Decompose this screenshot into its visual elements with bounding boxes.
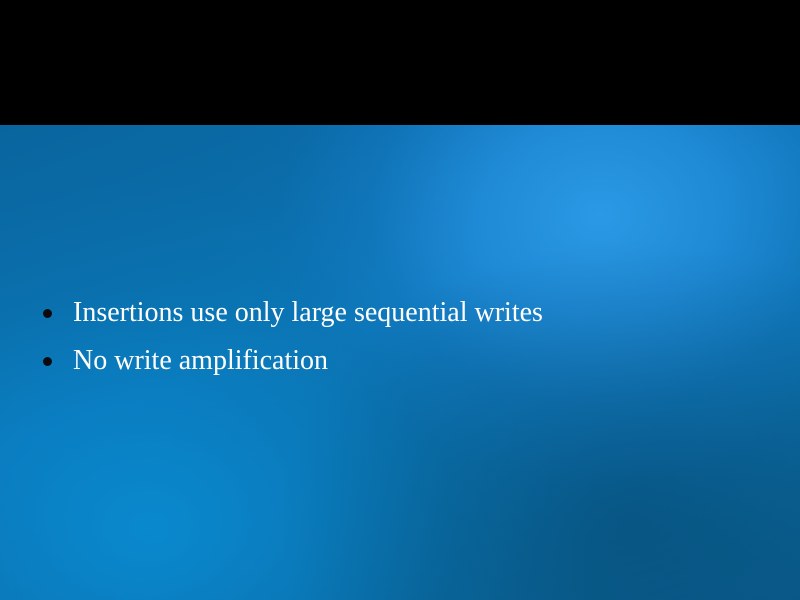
list-item: Insertions use only large sequential wri… xyxy=(43,294,743,332)
bullet-list: Insertions use only large sequential wri… xyxy=(43,294,743,390)
list-item: No write amplification xyxy=(43,342,743,380)
list-item-label: No write amplification xyxy=(73,342,328,380)
list-item-label: Insertions use only large sequential wri… xyxy=(73,294,543,332)
title-band xyxy=(0,0,800,125)
bullet-dot-icon xyxy=(43,357,52,366)
presentation-slide: Inserting into the hash store Insertions… xyxy=(0,0,800,600)
bullet-dot-icon xyxy=(43,309,52,318)
background-glow-bottom-left xyxy=(0,180,600,600)
slide-body: Insertions use only large sequential wri… xyxy=(0,125,800,600)
